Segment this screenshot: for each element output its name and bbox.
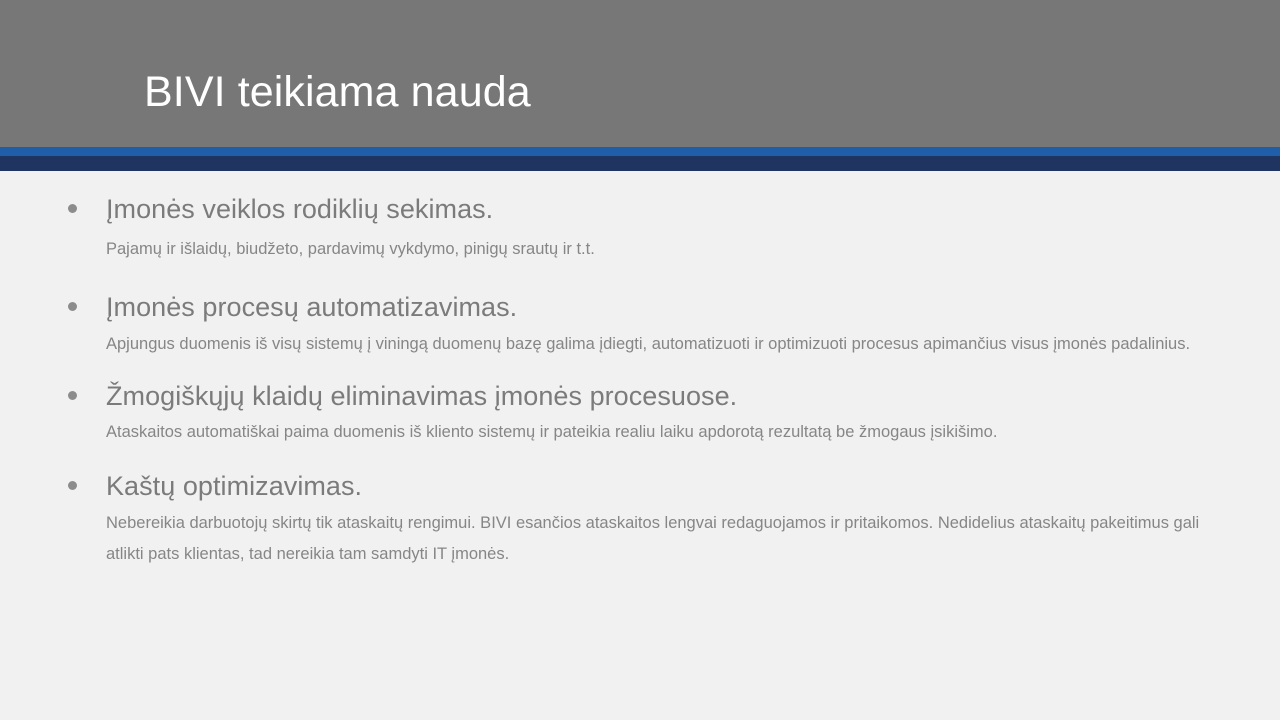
bullet-dot-icon [68,391,77,400]
list-item: Įmonės veiklos rodiklių sekimas. Pajamų … [0,193,1280,265]
bullet-heading: Įmonės veiklos rodiklių sekimas. [106,193,1236,225]
bullet-list: Įmonės veiklos rodiklių sekimas. Pajamų … [0,171,1280,570]
list-item: Žmogiškųjų klaidų eliminavimas įmonės pr… [0,380,1280,448]
bullet-heading: Įmonės procesų automatizavimas. [106,291,1236,323]
list-item: Kaštų optimizavimas. Nebereikia darbuoto… [0,470,1280,569]
page-title: BIVI teikiama nauda [144,70,531,115]
accent-bar-light [0,147,1280,156]
bullet-dot-icon [68,204,77,213]
bullet-heading: Kaštų optimizavimas. [106,470,1236,502]
bullet-dot-icon [68,481,77,490]
bullet-dot-icon [68,302,77,311]
bullet-subtext: Apjungus duomenis iš visų sistemų į vini… [106,329,1236,360]
bullet-subtext: Ataskaitos automatiškai paima duomenis i… [106,417,1236,448]
list-item: Įmonės procesų automatizavimas. Apjungus… [0,291,1280,359]
slide-body: Įmonės veiklos rodiklių sekimas. Pajamų … [0,171,1280,720]
bullet-subtext: Nebereikia darbuotojų skirtų tik ataskai… [106,508,1236,570]
accent-bar-dark [0,156,1280,171]
bullet-heading: Žmogiškųjų klaidų eliminavimas įmonės pr… [106,380,1236,412]
bullet-subtext: Pajamų ir išlaidų, biudžeto, pardavimų v… [106,234,1236,265]
presentation-slide: BIVI teikiama nauda Įmonės veiklos rodik… [0,0,1280,720]
slide-header-band: BIVI teikiama nauda [0,0,1280,147]
